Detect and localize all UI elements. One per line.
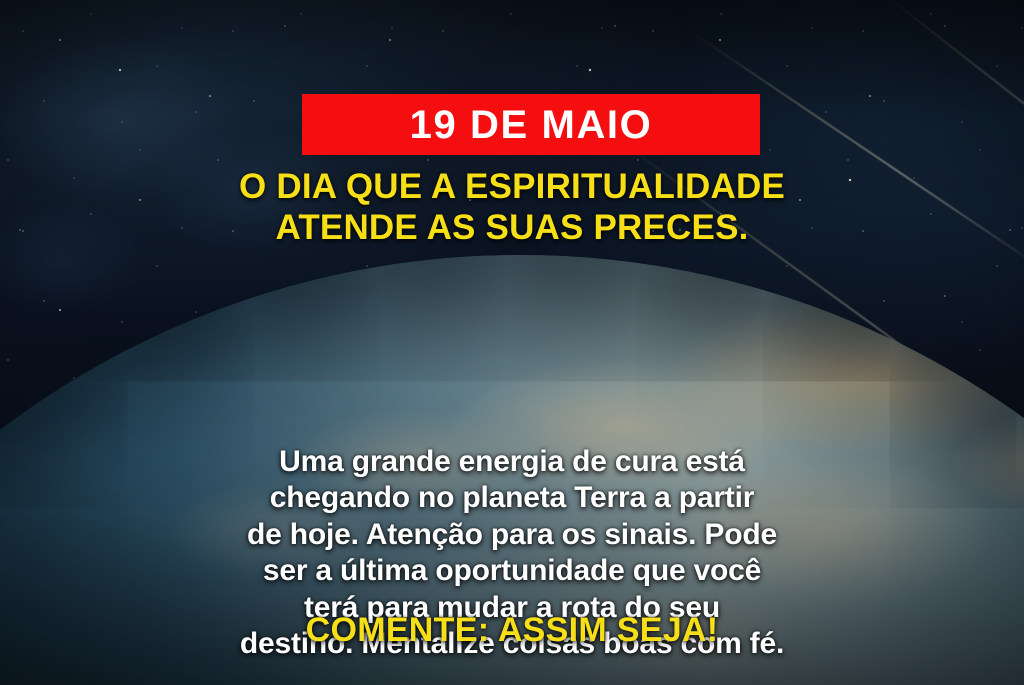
body-copy-line-2: chegando no planeta Terra a partir xyxy=(46,480,978,516)
headline: O DIA QUE A ESPIRITUALIDADE ATENDE AS SU… xyxy=(0,166,1024,249)
poster-canvas: 19 DE MAIO O DIA QUE A ESPIRITUALIDADE A… xyxy=(0,0,1024,685)
body-copy-line-1: Uma grande energia de cura está xyxy=(46,444,978,480)
body-copy-line-4: ser a última oportunidade que você xyxy=(46,553,978,589)
headline-line-1: O DIA QUE A ESPIRITUALIDADE xyxy=(40,166,984,207)
poster-content: 19 DE MAIO O DIA QUE A ESPIRITUALIDADE A… xyxy=(0,0,1024,685)
date-banner-text: 19 DE MAIO xyxy=(410,105,653,145)
call-to-action-text: COMENTE: ASSIM SEJA! xyxy=(0,612,1024,649)
headline-line-2: ATENDE AS SUAS PRECES. xyxy=(40,207,984,248)
body-copy-line-3: de hoje. Atenção para os sinais. Pode xyxy=(46,517,978,553)
date-banner: 19 DE MAIO xyxy=(302,94,760,155)
